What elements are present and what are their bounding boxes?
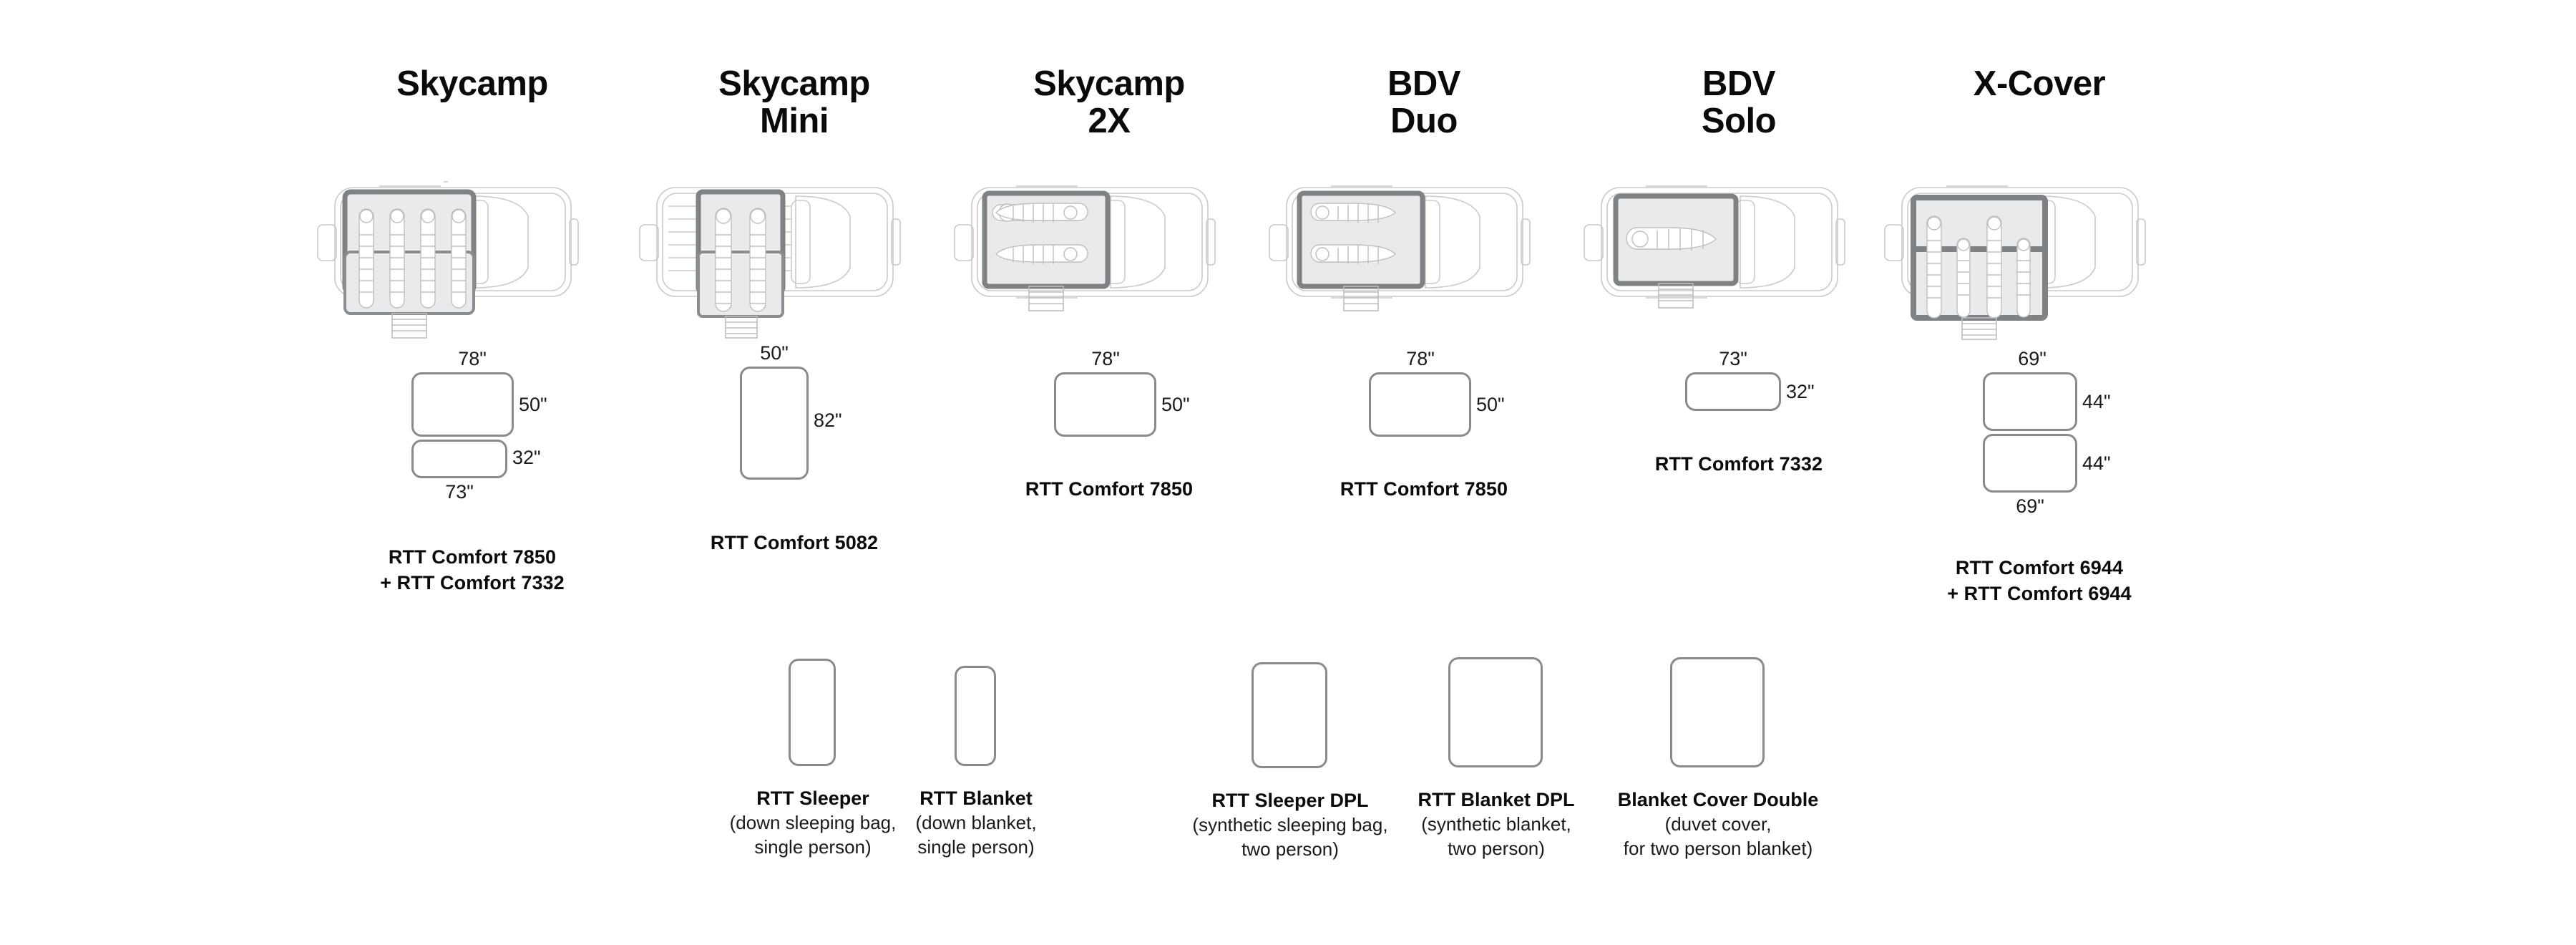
dim-box bbox=[1685, 372, 1781, 411]
dim-right-label: 50" bbox=[519, 394, 547, 416]
product-title-line1: X-Cover bbox=[1974, 64, 2105, 103]
dim-top-label: 73" bbox=[1719, 348, 1747, 370]
product-title-line2: Duo bbox=[1259, 103, 1589, 140]
model-name-line1: RTT Comfort 5082 bbox=[711, 532, 878, 553]
product-title: Skycamp bbox=[308, 66, 637, 103]
bedding-desc-line2: single person) bbox=[915, 835, 1036, 859]
bedding-item-rtt-blanket-dpl: RTT Blanket DPL (synthetic blanket, two … bbox=[1496, 657, 1497, 886]
illustration-bdv-solo bbox=[1574, 172, 1903, 351]
bedding-desc-line1: (synthetic sleeping bag, bbox=[1192, 814, 1387, 835]
bedding-desc-line2: two person) bbox=[1421, 836, 1571, 861]
model-name-line1: RTT Comfort 6944 bbox=[1956, 557, 2123, 578]
dimension-diagram-bdv-solo: 73" 32" bbox=[1574, 372, 1903, 458]
dim-right-label: 44" bbox=[2082, 452, 2111, 475]
bedding-name: Blanket Cover Double bbox=[1618, 787, 1819, 813]
model-name-skycamp-2x: RTT Comfort 7850 bbox=[945, 476, 1274, 502]
dim-right-label: 50" bbox=[1476, 394, 1505, 416]
model-name-line2: + RTT Comfort 6944 bbox=[1875, 581, 2204, 606]
bedding-shape bbox=[955, 666, 996, 766]
bedding-description: (synthetic sleeping bag, two person) bbox=[1192, 813, 1387, 862]
product-title-line1: Skycamp bbox=[396, 64, 548, 103]
bedding-shape bbox=[789, 659, 836, 766]
product-title-line1: BDV bbox=[1702, 64, 1775, 103]
model-name-skycamp-mini: RTT Comfort 5082 bbox=[630, 530, 959, 556]
model-name-line2: + RTT Comfort 7332 bbox=[308, 570, 637, 596]
bedding-desc-line1: (down blanket, bbox=[915, 812, 1036, 833]
dim-top-label: 78" bbox=[1091, 348, 1120, 370]
illustration-skycamp bbox=[308, 172, 637, 351]
dim-box bbox=[740, 367, 809, 480]
dim-right-label: 50" bbox=[1161, 394, 1190, 416]
bedding-item-rtt-blanket: RTT Blanket (down blanket, single person… bbox=[975, 666, 977, 895]
dim-box bbox=[1983, 372, 2077, 431]
bedding-shape bbox=[1252, 662, 1327, 768]
dim-top-label: 50" bbox=[760, 342, 789, 364]
bedding-shape bbox=[1670, 657, 1765, 767]
bedding-name: RTT Sleeper bbox=[756, 786, 869, 811]
bedding-description: (down sleeping bag, single person) bbox=[730, 810, 897, 860]
dim-right-label: 82" bbox=[814, 409, 842, 432]
illustration-bdv-duo bbox=[1259, 172, 1589, 351]
dim-box bbox=[1369, 372, 1471, 437]
bedding-description: (down blanket, single person) bbox=[915, 810, 1036, 860]
model-name-line1: RTT Comfort 7850 bbox=[1340, 478, 1508, 500]
bedding-desc-line1: (down sleeping bag, bbox=[730, 812, 897, 833]
model-name-bdv-solo: RTT Comfort 7332 bbox=[1574, 451, 1903, 477]
bedding-name: RTT Blanket DPL bbox=[1418, 787, 1574, 813]
bedding-shape bbox=[1448, 657, 1543, 767]
model-name-skycamp: RTT Comfort 7850 + RTT Comfort 7332 bbox=[308, 544, 637, 596]
dim-box bbox=[1054, 372, 1156, 437]
dimension-diagram-skycamp-2x: 78" 50" bbox=[945, 372, 1274, 472]
product-title-line2: Mini bbox=[630, 103, 959, 140]
bedding-item-rtt-sleeper: RTT Sleeper (down sleeping bag, single p… bbox=[812, 659, 814, 888]
bedding-desc-line2: for two person blanket) bbox=[1624, 836, 1813, 861]
product-title-line2: Solo bbox=[1574, 103, 1903, 140]
vehicle-rooftop-tent-diagram bbox=[308, 172, 637, 351]
product-column-bdv-duo: BDV Duo bbox=[1259, 0, 1589, 644]
bedding-item-rtt-sleeper-dpl: RTT Sleeper DPL (synthetic sleeping bag,… bbox=[1289, 662, 1291, 891]
model-name-line1: RTT Comfort 7850 bbox=[389, 546, 556, 568]
product-title-line1: Skycamp bbox=[718, 64, 870, 103]
product-title: Skycamp Mini bbox=[630, 66, 959, 140]
bedding-name: RTT Sleeper DPL bbox=[1211, 788, 1368, 813]
dim-bottom-label: 73" bbox=[445, 481, 474, 503]
product-title: X-Cover bbox=[1875, 66, 2204, 103]
bedding-desc-line2: two person) bbox=[1192, 837, 1387, 861]
product-column-skycamp-2x: Skycamp 2X bbox=[945, 0, 1274, 644]
dim-box bbox=[1983, 434, 2077, 493]
dim-box bbox=[411, 372, 514, 437]
product-title-line1: Skycamp bbox=[1033, 64, 1185, 103]
model-name-bdv-duo: RTT Comfort 7850 bbox=[1259, 476, 1589, 502]
bedding-item-blanket-cover-double: Blanket Cover Double (duvet cover, for t… bbox=[1717, 657, 1719, 886]
product-title: BDV Duo bbox=[1259, 66, 1589, 140]
product-title-line1: BDV bbox=[1387, 64, 1460, 103]
dimension-diagram-x-cover: 69" 44" 44" 69" bbox=[1875, 372, 2204, 501]
dimension-diagram-skycamp: 78" 50" 32" 73" bbox=[308, 372, 637, 501]
bedding-desc-line2: single person) bbox=[730, 835, 897, 859]
dim-right-label: 44" bbox=[2082, 391, 2111, 413]
dim-bottom-label: 69" bbox=[2016, 495, 2044, 518]
dim-right-label: 32" bbox=[1786, 381, 1815, 403]
product-column-bdv-solo: BDV Solo bbox=[1574, 0, 1903, 644]
product-column-skycamp: Skycamp bbox=[308, 0, 637, 644]
bedding-name: RTT Blanket bbox=[919, 786, 1033, 811]
bedding-description: (duvet cover, for two person blanket) bbox=[1624, 812, 1813, 861]
vehicle-rooftop-tent-diagram bbox=[1259, 172, 1589, 351]
illustration-x-cover bbox=[1875, 172, 2204, 351]
dim-top-label: 78" bbox=[1406, 348, 1435, 370]
product-column-x-cover: X-Cover bbox=[1875, 0, 2204, 644]
product-column-skycamp-mini: Skycamp Mini bbox=[630, 0, 959, 644]
vehicle-rooftop-tent-diagram bbox=[945, 172, 1274, 351]
dim-box bbox=[411, 440, 507, 478]
vehicle-rooftop-tent-diagram bbox=[630, 172, 959, 351]
bedding-description: (synthetic blanket, two person) bbox=[1421, 812, 1571, 861]
vehicle-rooftop-tent-diagram bbox=[1875, 172, 2204, 351]
dim-top-label: 78" bbox=[458, 348, 487, 370]
illustration-skycamp-2x bbox=[945, 172, 1274, 351]
product-title: BDV Solo bbox=[1574, 66, 1903, 140]
dim-right-label: 32" bbox=[512, 447, 541, 469]
model-name-x-cover: RTT Comfort 6944 + RTT Comfort 6944 bbox=[1875, 555, 2204, 607]
model-name-line1: RTT Comfort 7850 bbox=[1025, 478, 1193, 500]
product-title: Skycamp 2X bbox=[945, 66, 1274, 140]
bedding-desc-line1: (synthetic blanket, bbox=[1421, 813, 1571, 835]
illustration-skycamp-mini bbox=[630, 172, 959, 351]
dimension-diagram-skycamp-mini: 50" 82" bbox=[630, 367, 959, 495]
dimension-diagram-bdv-duo: 78" 50" bbox=[1259, 372, 1589, 472]
bedding-desc-line1: (duvet cover, bbox=[1665, 813, 1772, 835]
dim-top-label: 69" bbox=[2018, 348, 2046, 370]
model-name-line1: RTT Comfort 7332 bbox=[1655, 453, 1823, 475]
product-title-line2: 2X bbox=[945, 103, 1274, 140]
vehicle-rooftop-tent-diagram bbox=[1574, 172, 1903, 351]
